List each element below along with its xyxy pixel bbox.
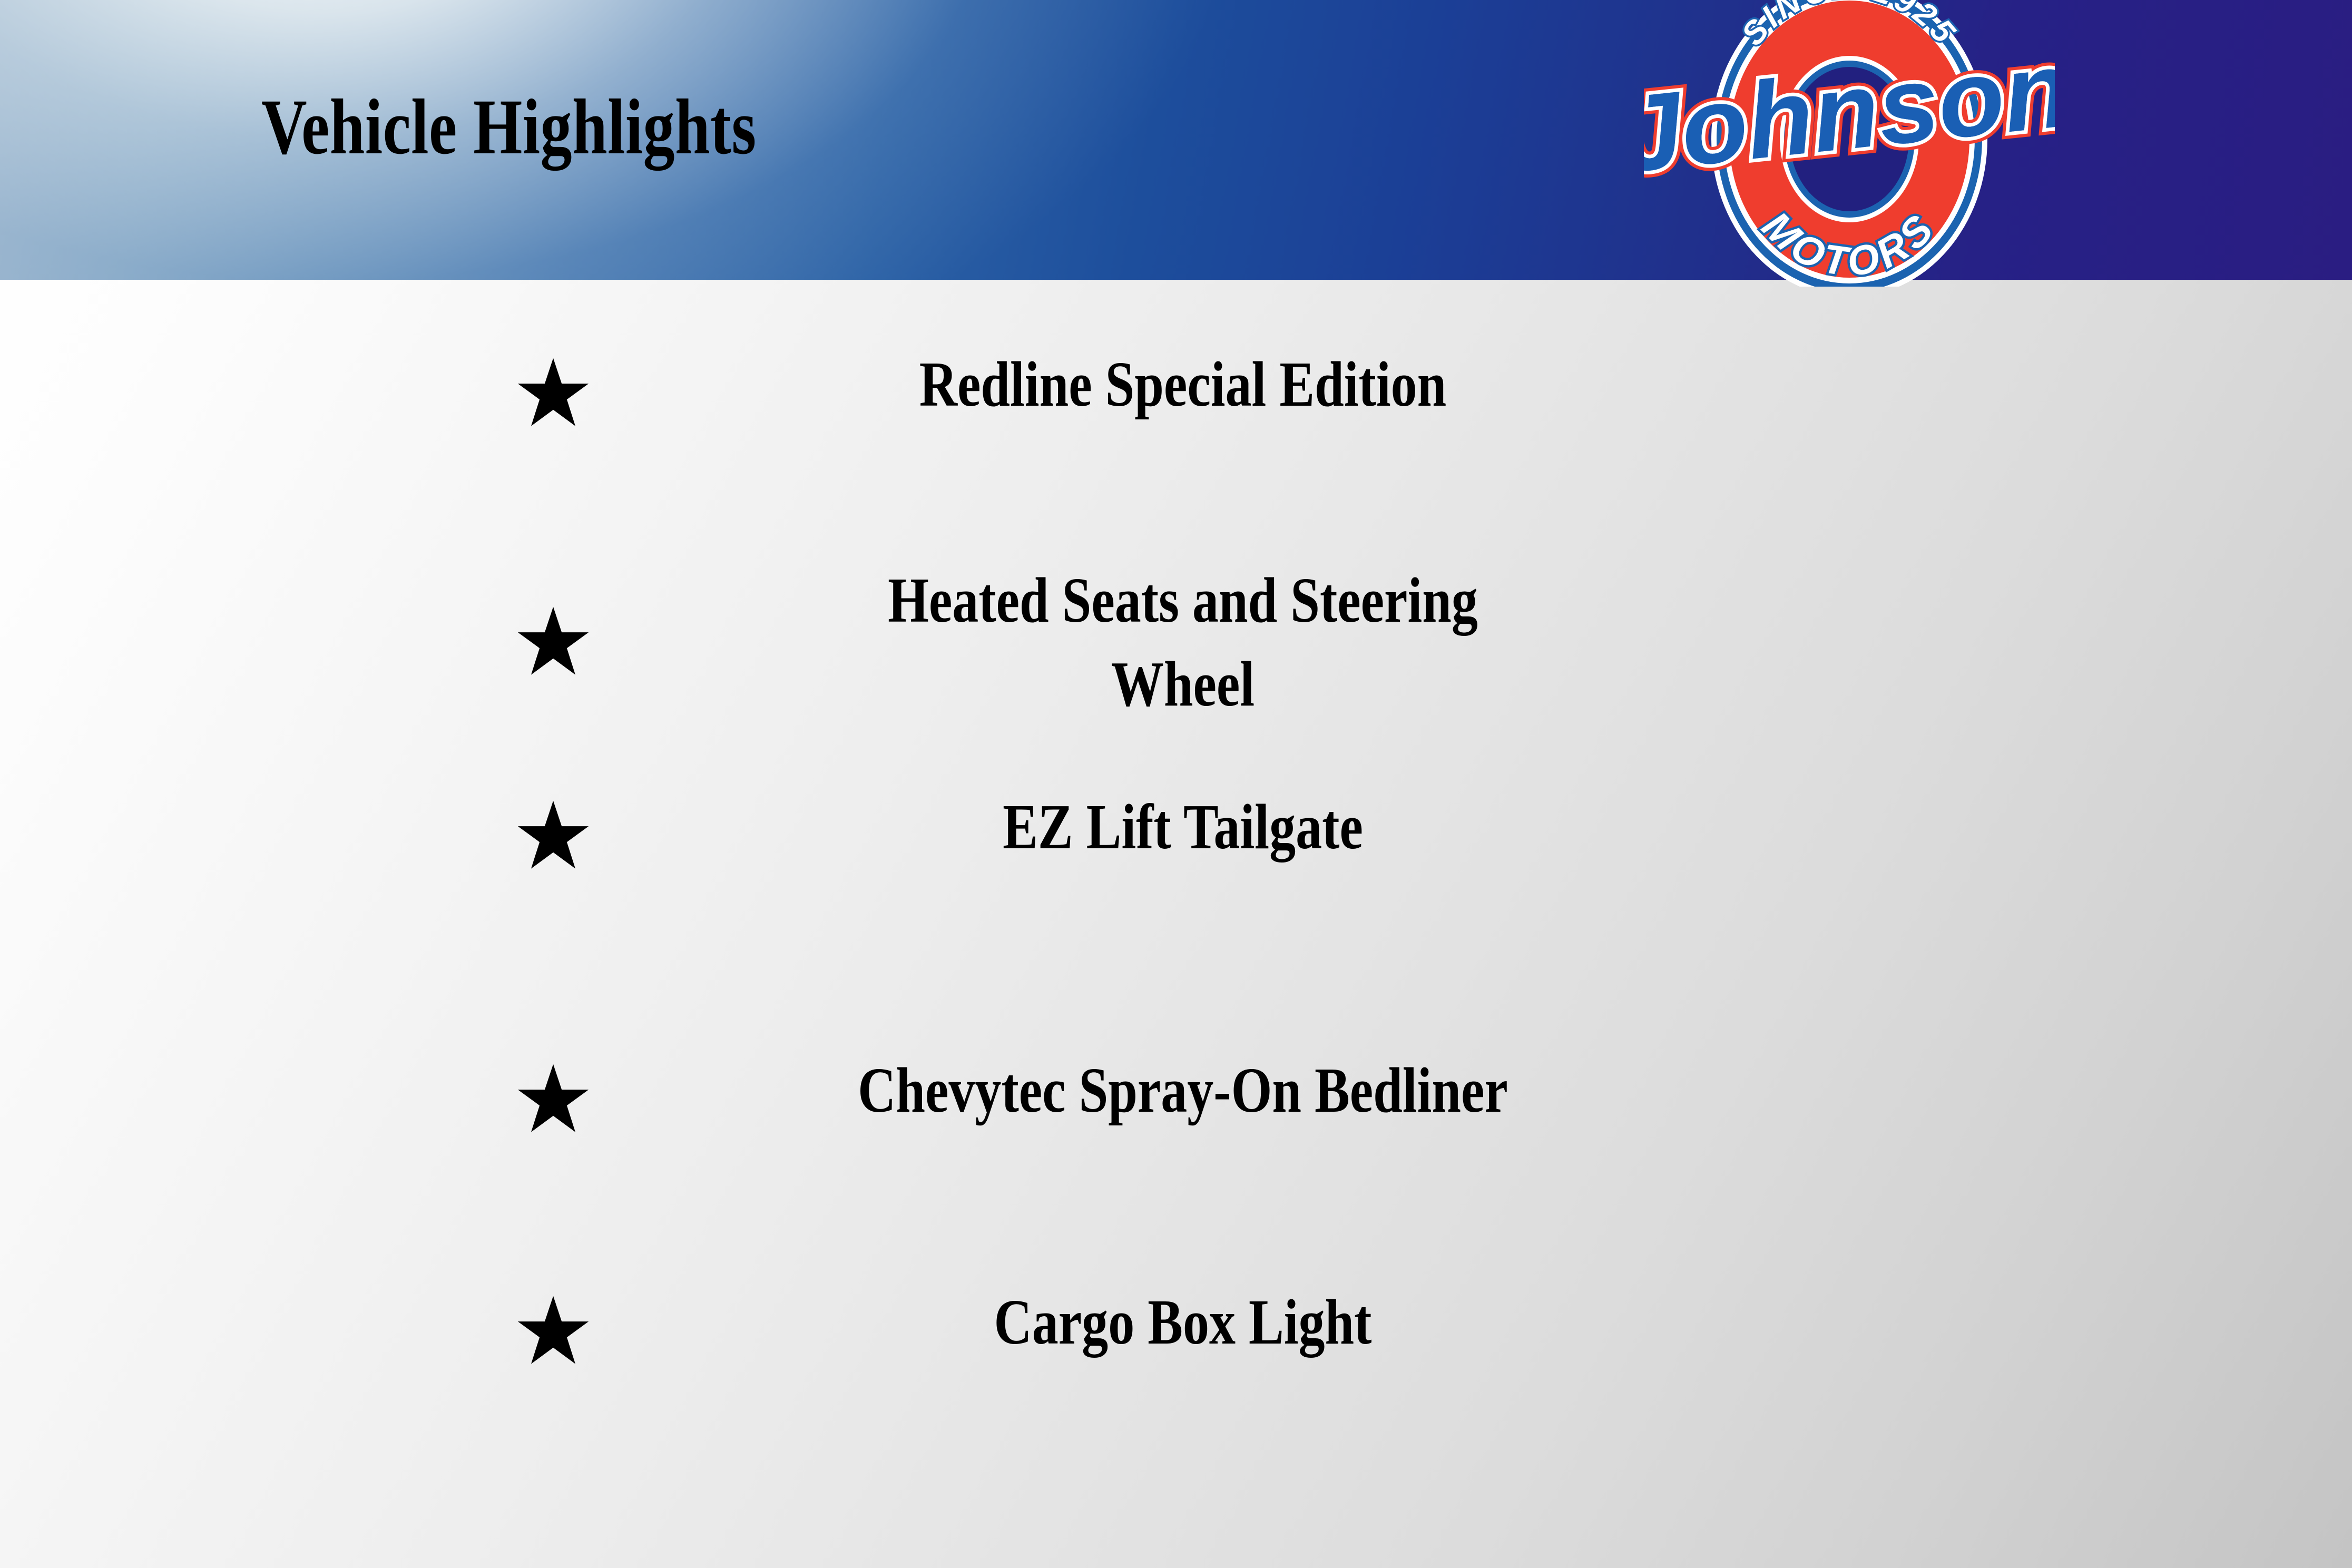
list-item-text: Redline Special Edition xyxy=(723,343,1643,427)
star-icon xyxy=(516,605,590,679)
list-item-text: Cargo Box Light xyxy=(723,1281,1643,1365)
slide-canvas: Vehicle Highlights SINCE 1925 xyxy=(0,0,2352,1568)
list-item-line: Heated Seats and Steering xyxy=(723,559,1643,643)
list-item: Redline Special Edition xyxy=(0,343,2352,448)
svg-text:Johnson: Johnson xyxy=(1644,28,2055,195)
list-item-line: Wheel xyxy=(723,643,1643,727)
vehicle-highlights-list: Redline Special Edition Heated Seats and… xyxy=(0,280,2352,1568)
list-item: EZ Lift Tailgate xyxy=(0,786,2352,891)
star-icon xyxy=(516,799,590,873)
page-title: Vehicle Highlights xyxy=(261,87,757,166)
list-item-text: EZ Lift Tailgate xyxy=(723,786,1643,869)
johnson-motors-logo: SINCE 1925 MOTORS Johnson Johnson Johnso… xyxy=(1644,0,2055,287)
list-item-line: EZ Lift Tailgate xyxy=(723,786,1643,869)
list-item-line: Chevytec Spray-On Bedliner xyxy=(701,1049,1665,1133)
star-icon xyxy=(516,357,590,430)
list-item-text: Heated Seats and Steering Wheel xyxy=(723,559,1643,726)
list-item: Chevytec Spray-On Bedliner xyxy=(0,1049,2352,1154)
list-item-line: Redline Special Edition xyxy=(723,343,1643,427)
star-icon xyxy=(516,1063,590,1136)
list-item-text: Chevytec Spray-On Bedliner xyxy=(701,1049,1665,1133)
list-item: Cargo Box Light xyxy=(0,1281,2352,1386)
list-item: Heated Seats and Steering Wheel xyxy=(0,559,2352,733)
list-item-line: Cargo Box Light xyxy=(723,1281,1643,1365)
star-icon xyxy=(516,1295,590,1368)
logo-wordmark: Johnson Johnson Johnson xyxy=(1644,28,2055,195)
